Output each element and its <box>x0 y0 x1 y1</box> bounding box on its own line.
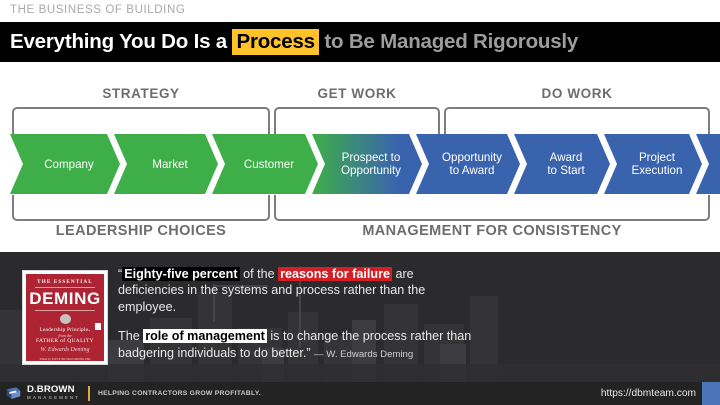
quote-highlight-reasons: reasons for failure <box>278 267 392 281</box>
bracket-top-1 <box>12 107 270 134</box>
quote-text: “Eighty-five percent of the reasons for … <box>118 266 480 363</box>
process-stage-customer[interactable]: Customer <box>212 134 318 194</box>
footer-tagline: HELPING CONTRACTORS GROW PROFITABLY. <box>98 390 261 397</box>
process-stage-market[interactable]: Market <box>114 134 218 194</box>
title-highlight: Process <box>232 29 318 55</box>
process-stage-label: Project Execution <box>632 151 683 177</box>
book-essential-text: THE ESSENTIAL <box>37 279 93 285</box>
process-stage-label: Prospect to Opportunity <box>341 151 401 177</box>
process-stage-label: Opportunity to Award <box>442 151 502 177</box>
book-seal-icon <box>60 314 71 324</box>
process-diagram: STRATEGYGET WORKDO WORK CompanyMarketCus… <box>0 62 720 252</box>
book-cover-image: THE ESSENTIAL DEMING Leadership Principl… <box>22 262 108 372</box>
group-label-get-work: GET WORK <box>274 86 440 101</box>
bracket-bottom-2 <box>274 195 710 221</box>
book-rule-bottom <box>35 310 96 311</box>
bottom-label-management-for-consistency: MANAGEMENT FOR CONSISTENCY <box>274 223 710 239</box>
process-stage-label: Company <box>44 158 94 171</box>
book-title: DEMING <box>29 290 101 308</box>
quote-text-of-the: of the <box>240 267 279 281</box>
footer-bar: D.BROWN MANAGEMENT HELPING CONTRACTORS G… <box>0 382 720 405</box>
logo-subtitle: MANAGEMENT <box>27 394 80 402</box>
quote-highlight-role: role of management <box>143 329 267 343</box>
bracket-top-3 <box>444 107 710 134</box>
group-label-strategy: STRATEGY <box>12 86 270 101</box>
quote-paragraph-1: “Eighty-five percent of the reasons for … <box>118 266 480 315</box>
page-title: Everything You Do Is a Process to Be Man… <box>0 30 578 54</box>
footer-url[interactable]: https://dbmteam.com <box>601 388 696 399</box>
quote-attribution: — W. Edwards Deming <box>314 349 413 360</box>
logo-name: D.BROWN <box>27 386 80 394</box>
book-rule-top <box>35 287 96 288</box>
process-stage-company[interactable]: Company <box>10 134 120 194</box>
process-stage-project-execution[interactable]: Project Execution <box>604 134 702 194</box>
process-stage-award-to-start[interactable]: Award to Start <box>514 134 610 194</box>
footer-accent-block <box>702 382 720 405</box>
process-stage-opportunity-to-award[interactable]: Opportunity to Award <box>416 134 520 194</box>
title-part1: Everything You Do Is a <box>10 30 232 53</box>
dbrown-logo-icon <box>5 386 22 401</box>
process-stage-label: Award to Start <box>547 151 584 177</box>
group-label-do-work: DO WORK <box>444 86 710 101</box>
book-author-line: Edited by JOYCE NILSSON ORSINI, PhD <box>40 357 91 361</box>
quote-text-the: The <box>118 329 143 343</box>
bracket-bottom-1 <box>12 195 270 221</box>
quote-band: THE ESSENTIAL DEMING Leadership Principl… <box>0 252 720 382</box>
slide: THE BUSINESS OF BUILDING Everything You … <box>0 0 720 405</box>
process-stage-label: Market <box>152 158 187 171</box>
process-stage-prospect-to-opportunity[interactable]: Prospect to Opportunity <box>312 134 422 194</box>
bottom-label-leadership-choices: LEADERSHIP CHOICES <box>12 223 270 239</box>
logo-text: D.BROWN MANAGEMENT <box>27 386 80 402</box>
book-father-text: FATHER of QUALITY <box>36 338 94 344</box>
footer-divider <box>88 386 90 401</box>
title-bar: Everything You Do Is a Process to Be Man… <box>0 22 720 62</box>
book-signature: W. Edwards Deming <box>40 347 89 353</box>
kicker-text: THE BUSINESS OF BUILDING <box>10 4 185 16</box>
bracket-top-2 <box>274 107 440 134</box>
process-stage-label: Customer <box>244 158 294 171</box>
title-part2: to Be Managed Rigorously <box>319 30 578 53</box>
quote-paragraph-2: The role of management is to change the … <box>118 328 480 363</box>
process-stage-row: CompanyMarketCustomerProspect to Opportu… <box>10 134 710 194</box>
quote-highlight-eighty-five: Eighty-five percent <box>122 267 239 281</box>
book-badge-icon <box>88 323 101 330</box>
